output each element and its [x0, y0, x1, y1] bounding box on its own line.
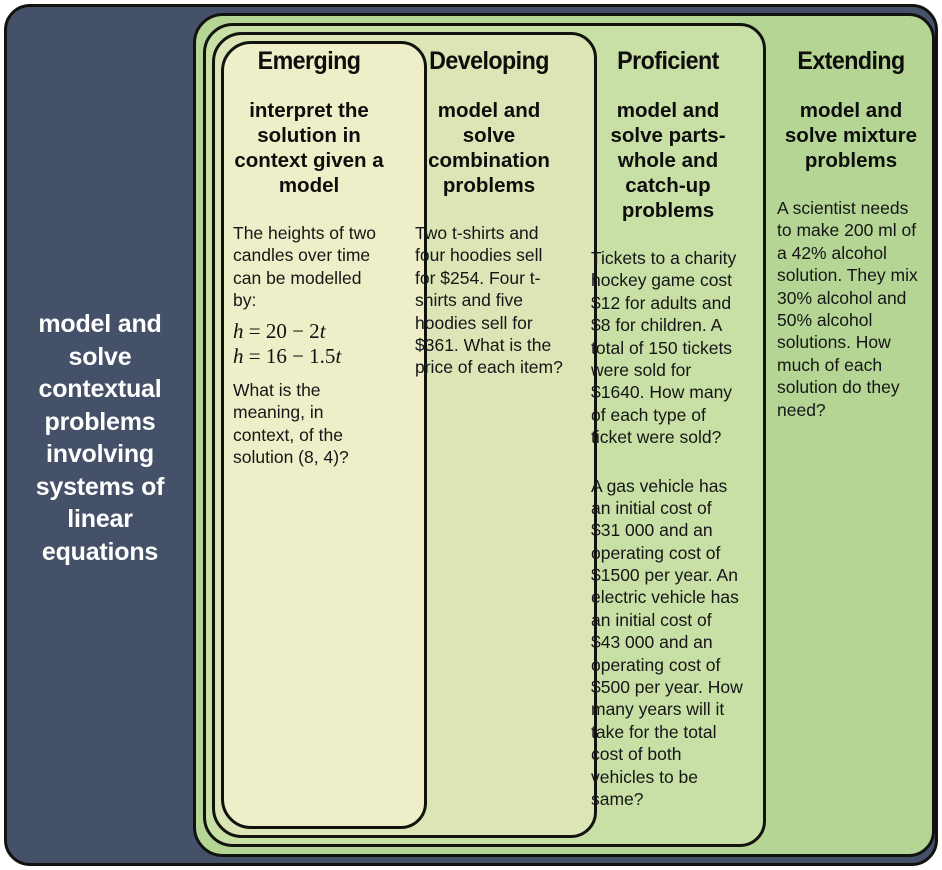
- question-list-emerging: The heights of two candles over time can…: [233, 222, 385, 468]
- column-emerging: Emerging interpret the solution in conte…: [221, 13, 397, 494]
- column-proficient: Proficient model and solve parts-whole a…: [579, 13, 757, 836]
- learning-outcome-text: model and solve contextual problems invo…: [17, 308, 183, 568]
- question-item: The heights of two candles over time can…: [233, 222, 385, 468]
- equation-line: h = 16 − 1.5t: [233, 344, 385, 370]
- question-tail: What is the meaning, in context, of the …: [233, 380, 349, 467]
- question-item: Tickets to a charity hockey game cost $1…: [591, 247, 745, 449]
- level-goal-developing: model and solve combination problems: [415, 98, 563, 198]
- question-item: A gas vehicle has an initial cost of $31…: [591, 475, 745, 811]
- question-lead: The heights of two candles over time can…: [233, 223, 376, 310]
- level-goal-emerging: interpret the solution in context given …: [233, 98, 385, 198]
- column-extending: Extending model and solve mixture proble…: [765, 13, 937, 447]
- learning-outcome-panel: model and solve contextual problems invo…: [7, 7, 193, 869]
- question-item: Two t-shirts and four hoodies sell for $…: [415, 222, 563, 379]
- equation-line: h = 20 − 2t: [233, 319, 385, 345]
- level-title-proficient: Proficient: [596, 47, 739, 76]
- progression-poster: model and solve contextual problems invo…: [0, 0, 942, 870]
- level-title-developing: Developing: [420, 47, 558, 76]
- question-list-proficient: Tickets to a charity hockey game cost $1…: [591, 247, 745, 810]
- level-title-emerging: Emerging: [238, 47, 379, 76]
- level-goal-proficient: model and solve parts-whole and catch-up…: [591, 98, 745, 223]
- question-item: A scientist needs to make 200 ml of a 42…: [777, 197, 925, 421]
- equation-block: h = 20 − 2t h = 16 − 1.5t: [233, 319, 385, 370]
- level-title-extending: Extending: [782, 47, 920, 76]
- level-goal-extending: model and solve mixture problems: [777, 98, 925, 173]
- column-developing: Developing model and solve combination p…: [403, 13, 575, 405]
- question-list-developing: Two t-shirts and four hoodies sell for $…: [415, 222, 563, 379]
- question-list-extending: A scientist needs to make 200 ml of a 42…: [777, 197, 925, 421]
- poster-frame: model and solve contextual problems invo…: [4, 4, 938, 866]
